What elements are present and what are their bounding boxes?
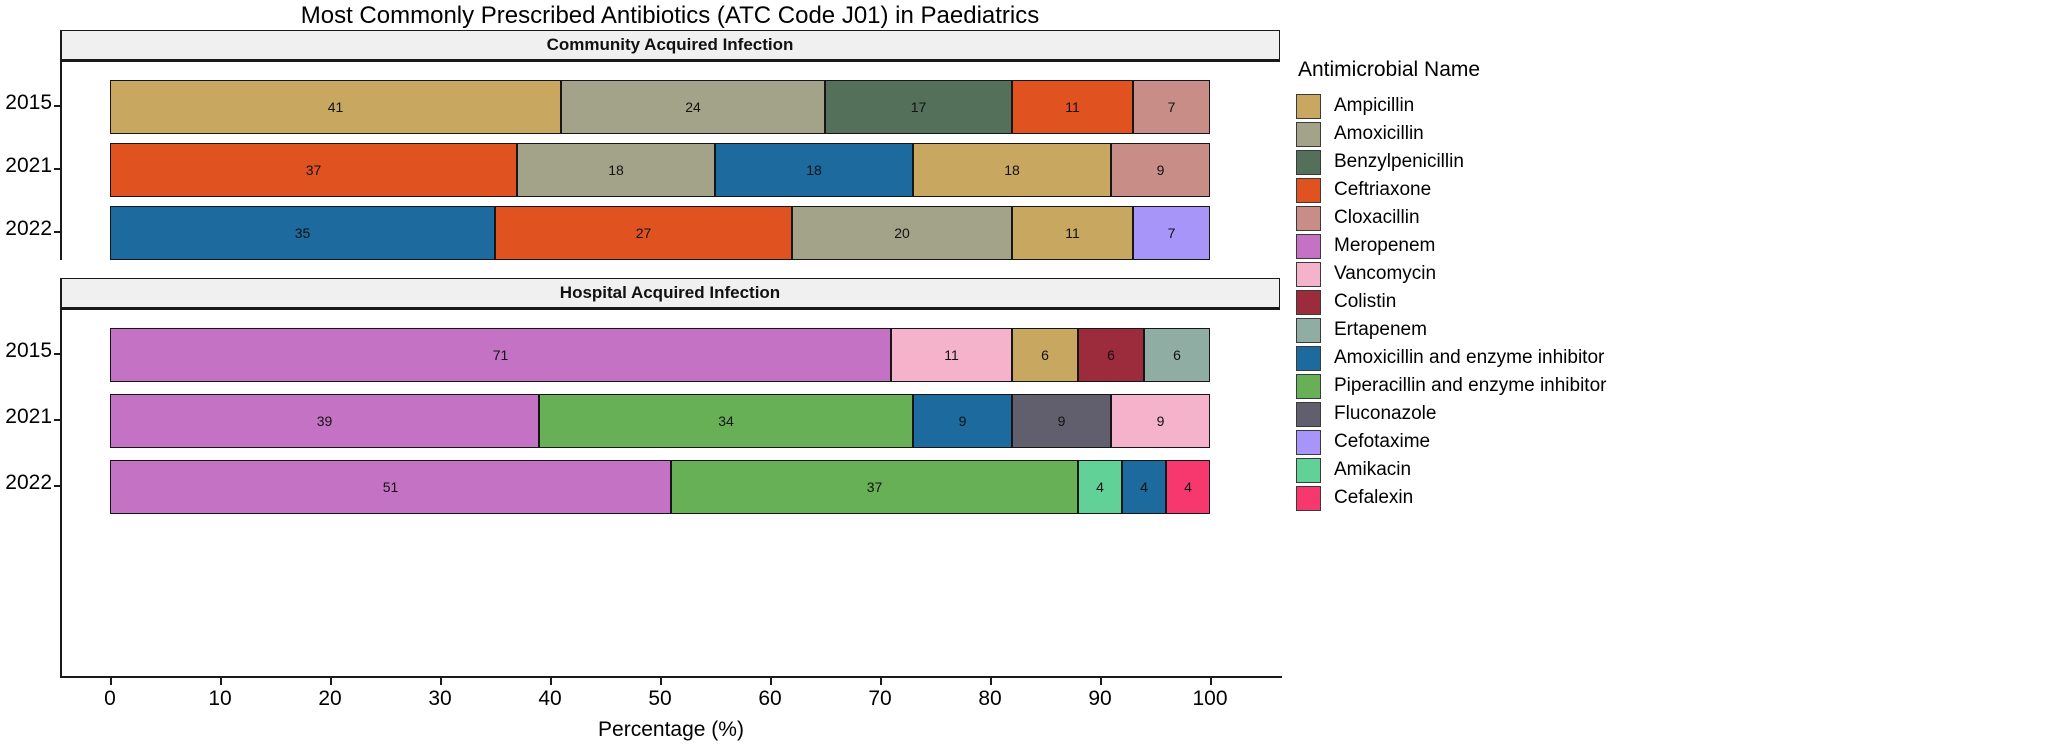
bar-segment[interactable]: 27 [495, 206, 792, 260]
bar-segment-value: 9 [959, 413, 967, 429]
bar-segment[interactable]: 9 [1111, 143, 1210, 197]
bar-segment[interactable]: 4 [1122, 460, 1166, 514]
legend-color-swatch [1296, 206, 1321, 231]
legend-color-swatch [1296, 318, 1321, 343]
x-axis-tick-label: 90 [1070, 687, 1130, 711]
legend-item[interactable]: Amoxicillin [1296, 120, 2055, 148]
legend-item[interactable]: Colistin [1296, 288, 2055, 316]
x-axis-tick-label: 0 [80, 687, 140, 711]
bar-segment[interactable]: 7 [1133, 206, 1210, 260]
legend-item[interactable]: Cefalexin [1296, 484, 2055, 512]
legend-color-swatch [1296, 122, 1321, 147]
bar-segment-value: 17 [911, 99, 927, 115]
bar-segment-value: 34 [718, 413, 734, 429]
x-axis-tick-mark [110, 678, 112, 685]
bar-segment[interactable]: 35 [110, 206, 495, 260]
bar-segment-value: 9 [1058, 413, 1066, 429]
legend-color-swatch [1296, 346, 1321, 371]
bar-segment-value: 20 [894, 225, 910, 241]
x-axis-tick-label: 20 [300, 687, 360, 711]
bar-segment[interactable]: 11 [1012, 206, 1133, 260]
y-axis-tick-label: 2021 [0, 405, 52, 429]
legend-item[interactable]: Benzylpenicillin [1296, 148, 2055, 176]
y-axis-tick-mark [54, 231, 61, 233]
bar-segment[interactable]: 11 [891, 328, 1012, 382]
bar-segment-value: 4 [1096, 479, 1104, 495]
legend-color-swatch [1296, 402, 1321, 427]
bar-segment[interactable]: 41 [110, 80, 561, 134]
bar-segment-value: 9 [1157, 413, 1165, 429]
legend-item[interactable]: Amikacin [1296, 456, 2055, 484]
bar-segment[interactable]: 24 [561, 80, 825, 134]
plot-panel-2: 711166639349995137444 [60, 308, 1280, 678]
bar-segment-value: 24 [685, 99, 701, 115]
bar-segment-value: 18 [1004, 162, 1020, 178]
legend-item[interactable]: Meropenem [1296, 232, 2055, 260]
bar-segment-value: 7 [1168, 225, 1176, 241]
y-axis-tick-mark [54, 353, 61, 355]
x-axis-tick-label: 30 [410, 687, 470, 711]
y-axis-tick-label: 2021 [0, 154, 52, 178]
x-axis-tick-mark [440, 678, 442, 685]
legend-color-swatch [1296, 458, 1321, 483]
bar-segment[interactable]: 18 [913, 143, 1111, 197]
legend-item-label: Amikacin [1334, 459, 1411, 481]
legend-color-swatch [1296, 150, 1321, 175]
legend-item-label: Fluconazole [1334, 403, 1436, 425]
legend-item-label: Piperacillin and enzyme inhibitor [1334, 375, 1606, 397]
bar-segment-value: 6 [1107, 347, 1115, 363]
x-axis-tick-label: 60 [740, 687, 800, 711]
legend-item-list: AmpicillinAmoxicillinBenzylpenicillinCef… [1296, 92, 2055, 512]
legend-item-label: Colistin [1334, 291, 1396, 313]
x-axis-tick-mark [990, 678, 992, 685]
bar-segment[interactable]: 6 [1012, 328, 1078, 382]
bar-segment-value: 18 [608, 162, 624, 178]
y-axis-tick-label: 2015 [0, 339, 52, 363]
x-axis-tick-mark [550, 678, 552, 685]
x-axis-title: Percentage (%) [60, 718, 1282, 742]
bar-segment[interactable]: 37 [671, 460, 1078, 514]
bar-segment-value: 6 [1173, 347, 1181, 363]
legend-item-label: Amoxicillin and enzyme inhibitor [1334, 347, 1604, 369]
facet-strip-label-1: Community Acquired Infection [60, 30, 1280, 60]
y-axis-line [60, 278, 62, 678]
x-axis-tick-mark [220, 678, 222, 685]
bar-segment-value: 4 [1184, 479, 1192, 495]
bar-segment-value: 35 [295, 225, 311, 241]
x-axis-tick-label: 50 [630, 687, 690, 711]
legend-item-label: Meropenem [1334, 235, 1435, 257]
bar-segment[interactable]: 39 [110, 394, 539, 448]
legend-item[interactable]: Ceftriaxone [1296, 176, 2055, 204]
legend-color-swatch [1296, 290, 1321, 315]
legend-color-swatch [1296, 430, 1321, 455]
y-axis-tick-label: 2022 [0, 217, 52, 241]
legend-color-swatch [1296, 178, 1321, 203]
y-axis-tick-label: 2015 [0, 91, 52, 115]
legend-color-swatch [1296, 374, 1321, 399]
bar-segment-value: 71 [493, 347, 509, 363]
bar-segment[interactable]: 6 [1078, 328, 1144, 382]
bar-segment-value: 27 [636, 225, 652, 241]
legend-item[interactable]: Cefotaxime [1296, 428, 2055, 456]
x-axis-tick-label: 70 [850, 687, 910, 711]
legend-item-label: Vancomycin [1334, 263, 1436, 285]
x-axis-tick-mark [770, 678, 772, 685]
x-axis-tick-mark [660, 678, 662, 685]
bar-segment[interactable]: 9 [1111, 394, 1210, 448]
bar-segment-value: 11 [944, 347, 959, 363]
legend-item[interactable]: Amoxicillin and enzyme inhibitor [1296, 344, 2055, 372]
legend-color-swatch [1296, 262, 1321, 287]
bar-segment[interactable]: 7 [1133, 80, 1210, 134]
x-axis-tick-label: 80 [960, 687, 1020, 711]
y-axis-tick-mark [54, 419, 61, 421]
legend-item[interactable]: Vancomycin [1296, 260, 2055, 288]
bar-segment[interactable]: 51 [110, 460, 671, 514]
legend-color-swatch [1296, 94, 1321, 119]
x-axis-tick-mark [1100, 678, 1102, 685]
legend-item-label: Ampicillin [1334, 95, 1414, 117]
bar-segment-value: 11 [1065, 99, 1080, 115]
bar-segment-value: 51 [383, 479, 399, 495]
bar-segment[interactable]: 9 [1012, 394, 1111, 448]
legend-color-swatch [1296, 486, 1321, 511]
bar-segment[interactable]: 34 [539, 394, 913, 448]
legend-item-label: Cefotaxime [1334, 431, 1430, 453]
bar-segment-value: 18 [806, 162, 822, 178]
bar-segment-value: 4 [1140, 479, 1148, 495]
legend-title: Antimicrobial Name [1298, 58, 2055, 82]
legend-item[interactable]: Piperacillin and enzyme inhibitor [1296, 372, 2055, 400]
facet-community-acquired-infection: Community Acquired Infection 41241711737… [60, 30, 1280, 260]
chart-page: Most Commonly Prescribed Antibiotics (AT… [0, 0, 2055, 756]
plot-panel-1: 412417117371818189352720117 [60, 60, 1280, 260]
bar-segment[interactable]: 37 [110, 143, 517, 197]
bar-segment-value: 11 [1065, 225, 1080, 241]
bar-segment[interactable]: 9 [913, 394, 1012, 448]
y-axis-tick-mark [54, 485, 61, 487]
facet-strip-label-2: Hospital Acquired Infection [60, 278, 1280, 308]
bar-segment-value: 6 [1041, 347, 1049, 363]
x-axis-tick-label: 100 [1180, 687, 1240, 711]
legend-item-label: Benzylpenicillin [1334, 151, 1464, 173]
x-axis-tick-label: 10 [190, 687, 250, 711]
legend-item-label: Amoxicillin [1334, 123, 1424, 145]
x-axis-tick-mark [880, 678, 882, 685]
bar-segment[interactable]: 18 [517, 143, 715, 197]
bar-segment[interactable]: 18 [715, 143, 913, 197]
x-axis-line [60, 676, 1282, 678]
x-axis-tick-mark [330, 678, 332, 685]
bar-segment-value: 7 [1168, 99, 1176, 115]
x-axis-tick-mark [1210, 678, 1212, 685]
legend-item-label: Cloxacillin [1334, 207, 1420, 229]
bar-segment-value: 37 [306, 162, 322, 178]
facet-hospital-acquired-infection: Hospital Acquired Infection 711166639349… [60, 278, 1280, 678]
legend: Antimicrobial Name AmpicillinAmoxicillin… [1296, 58, 2055, 512]
x-axis-tick-label: 40 [520, 687, 580, 711]
y-axis-tick-label: 2022 [0, 471, 52, 495]
y-axis-tick-mark [54, 168, 61, 170]
bar-segment-value: 37 [867, 479, 883, 495]
legend-item[interactable]: Ampicillin [1296, 92, 2055, 120]
bar-segment[interactable]: 71 [110, 328, 891, 382]
legend-item[interactable]: Ertapenem [1296, 316, 2055, 344]
bar-segment[interactable]: 17 [825, 80, 1012, 134]
bar-segment-value: 9 [1157, 162, 1165, 178]
bar-segment[interactable]: 11 [1012, 80, 1133, 134]
bar-segment-value: 41 [328, 99, 344, 115]
legend-item-label: Ceftriaxone [1334, 179, 1431, 201]
legend-color-swatch [1296, 234, 1321, 259]
y-axis-tick-mark [54, 105, 61, 107]
bar-segment[interactable]: 4 [1078, 460, 1122, 514]
y-axis-line [60, 30, 62, 260]
bar-segment[interactable]: 20 [792, 206, 1012, 260]
bar-segment[interactable]: 6 [1144, 328, 1210, 382]
legend-item[interactable]: Cloxacillin [1296, 204, 2055, 232]
legend-item-label: Cefalexin [1334, 487, 1413, 509]
bar-segment-value: 39 [317, 413, 333, 429]
page-title: Most Commonly Prescribed Antibiotics (AT… [0, 2, 1340, 30]
legend-item-label: Ertapenem [1334, 319, 1427, 341]
legend-item[interactable]: Fluconazole [1296, 400, 2055, 428]
bar-segment[interactable]: 4 [1166, 460, 1210, 514]
